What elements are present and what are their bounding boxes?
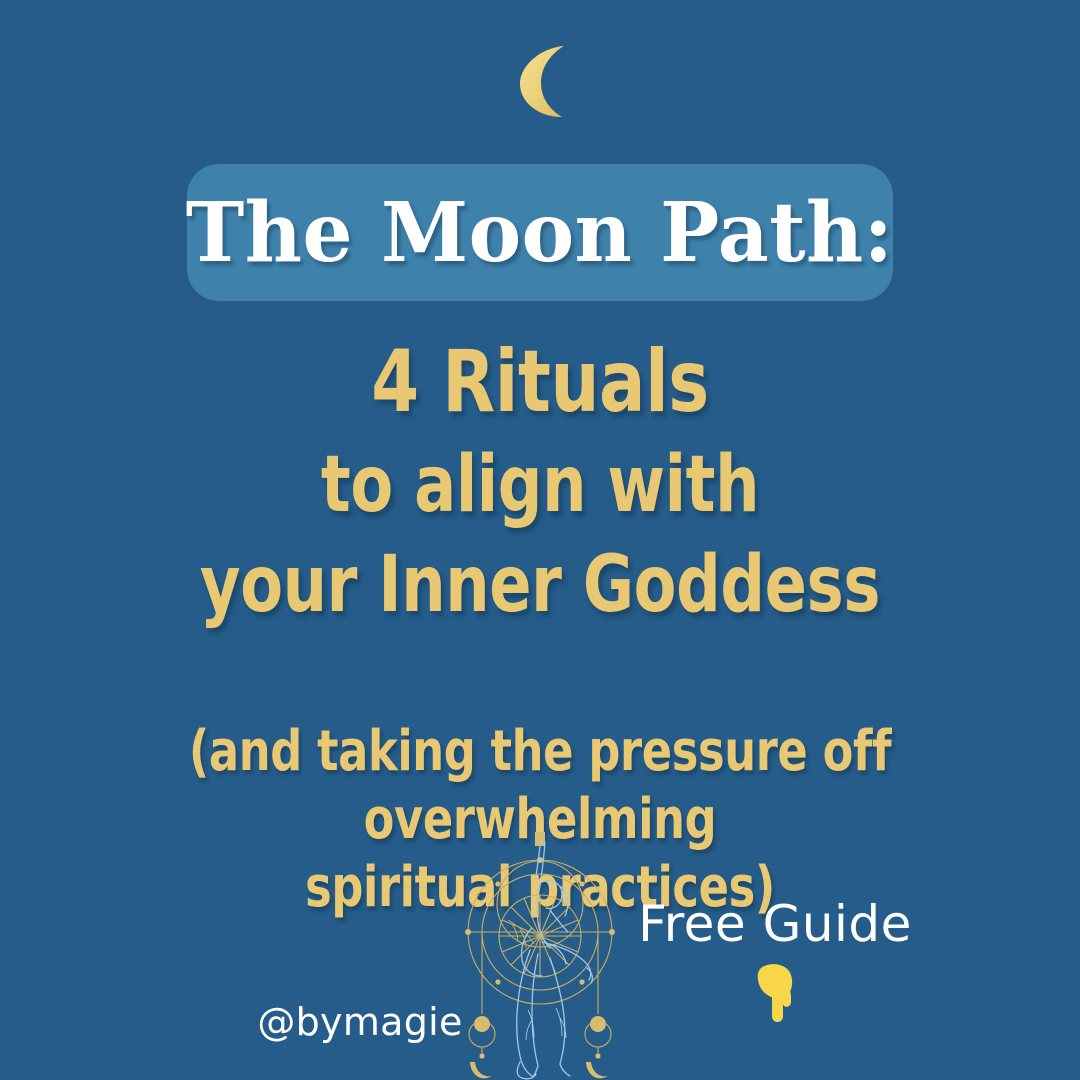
pointing-down-hand-icon	[749, 962, 801, 1024]
page-title: The Moon Path:	[186, 192, 894, 274]
crescent-moon-icon	[494, 38, 586, 124]
free-guide-group: Free Guide	[630, 896, 920, 1024]
headline-block: 4 Rituals to align with your Inner Godde…	[0, 336, 1080, 628]
free-guide-label: Free Guide	[638, 895, 912, 953]
headline-line-1: 4 Rituals	[108, 336, 972, 428]
poster-canvas: The Moon Path: 4 Rituals to align with y…	[0, 0, 1080, 1080]
headline-line-3: your Inner Goddess	[108, 542, 972, 628]
account-handle: @bymagie	[230, 1000, 490, 1044]
title-banner: The Moon Path:	[187, 164, 893, 301]
headline-line-2: to align with	[108, 442, 972, 528]
